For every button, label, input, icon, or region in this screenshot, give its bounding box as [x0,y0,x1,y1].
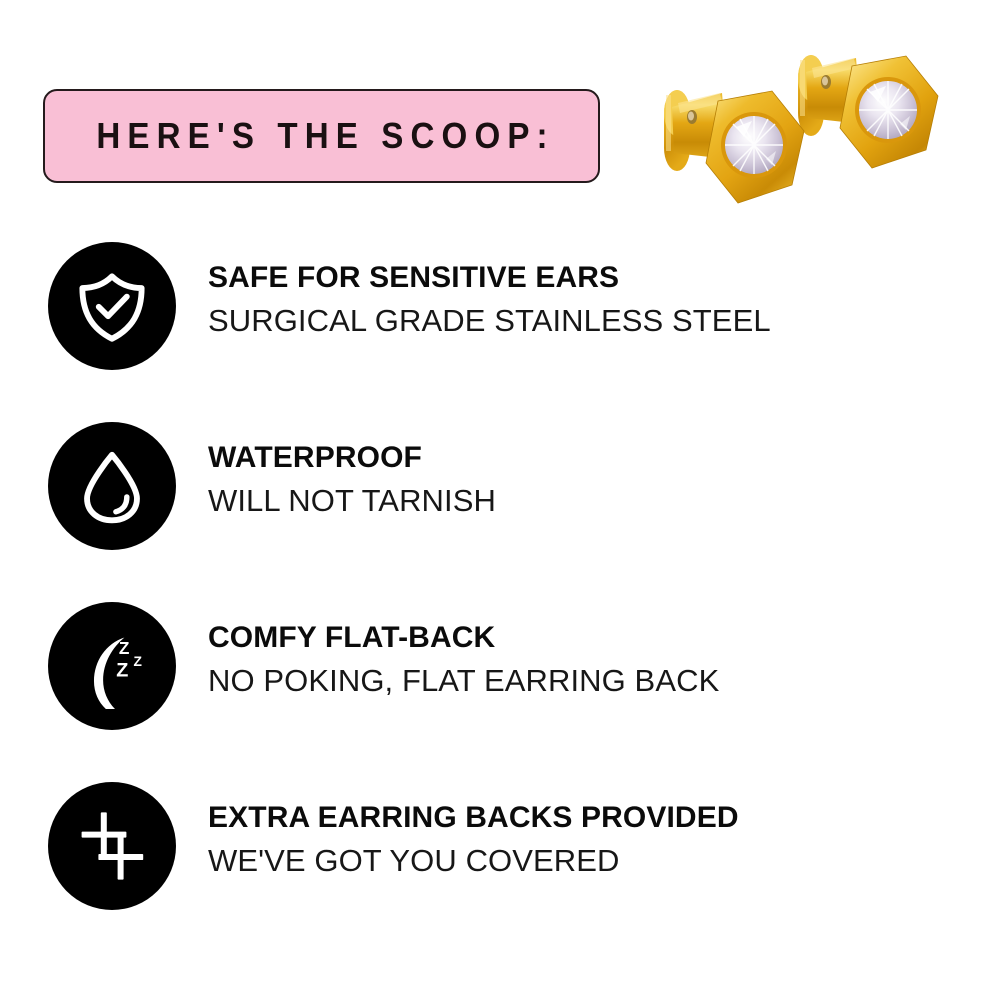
feature-subtitle: WE'VE GOT YOU COVERED [208,843,1000,880]
header-title: HERE'S THE SCOOP: [89,115,554,157]
shield-check-icon [48,242,176,370]
feature-subtitle: WILL NOT TARNISH [208,483,1000,520]
water-drop-glyph [73,447,151,525]
feature-row: EXTRA EARRING BACKS PROVIDED WE'VE GOT Y… [0,782,1000,962]
feature-title: EXTRA EARRING BACKS PROVIDED [208,800,1000,835]
feature-subtitle: NO POKING, FLAT EARRING BACK [208,663,1000,700]
water-drop-icon [48,422,176,550]
feature-row: Z Z Z COMFY FLAT-BACK NO POKING, FLAT EA… [0,602,1000,782]
feature-text: SAFE FOR SENSITIVE EARS SURGICAL GRADE S… [208,242,1000,340]
feature-title: WATERPROOF [208,440,1000,475]
header-pill: HERE'S THE SCOOP: [43,89,600,183]
feature-row: WATERPROOF WILL NOT TARNISH [0,422,1000,602]
svg-text:Z: Z [119,638,130,658]
feature-title: SAFE FOR SENSITIVE EARS [208,260,1000,295]
feature-text: COMFY FLAT-BACK NO POKING, FLAT EARRING … [208,602,1000,700]
feature-title: COMFY FLAT-BACK [208,620,1000,655]
feature-list: SAFE FOR SENSITIVE EARS SURGICAL GRADE S… [0,242,1000,962]
earrings-illustration [648,38,1000,263]
double-plus-glyph [72,806,152,886]
feature-text: WATERPROOF WILL NOT TARNISH [208,422,1000,520]
moon-sleep-glyph: Z Z Z [69,623,155,709]
promo-graphic: HERE'S THE SCOOP: [0,0,1000,1000]
feature-row: SAFE FOR SENSITIVE EARS SURGICAL GRADE S… [0,242,1000,422]
feature-text: EXTRA EARRING BACKS PROVIDED WE'VE GOT Y… [208,782,1000,880]
shield-check-glyph [73,267,151,345]
svg-text:Z: Z [116,659,128,681]
product-image [648,38,1000,263]
feature-subtitle: SURGICAL GRADE STAINLESS STEEL [208,303,1000,340]
svg-text:Z: Z [134,654,142,669]
moon-sleep-icon: Z Z Z [48,602,176,730]
double-plus-icon [48,782,176,910]
